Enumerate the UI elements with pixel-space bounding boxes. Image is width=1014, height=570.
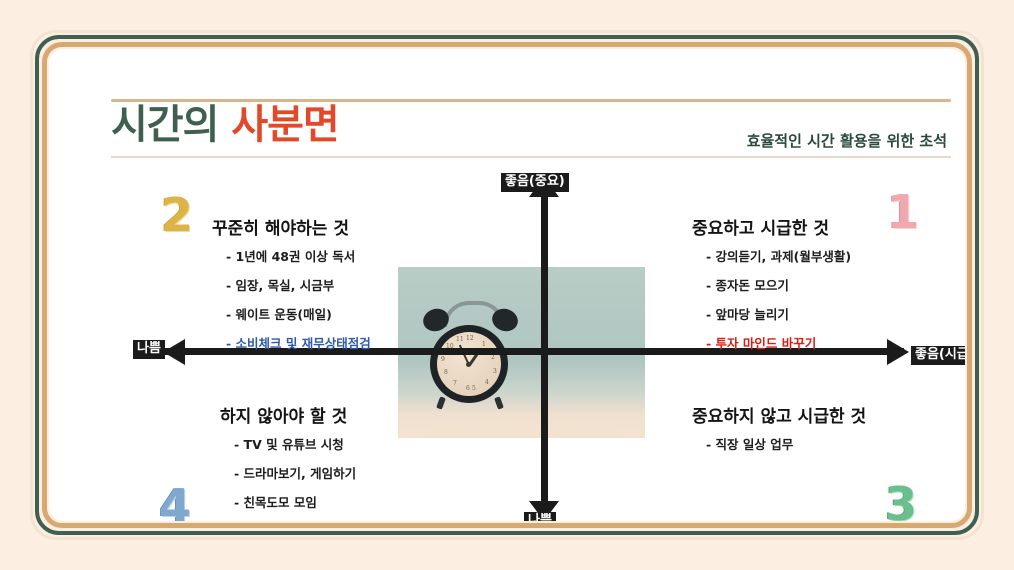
quadrant-title: 하지 않아야 할 것 xyxy=(220,402,387,427)
quadrant-bottom-left: 하지 않아야 할 것 - TV 및 유튜브 시청 - 드라마보기, 게임하기 -… xyxy=(220,402,387,521)
quadrant-item: - 종자돈 모으기 xyxy=(706,275,851,294)
quadrant-item: - 강의듣기, 과제(월부생활) xyxy=(706,246,851,265)
clock-foot-right-icon xyxy=(494,396,504,409)
quadrant-top-right: 중요하고 시급한 것 - 강의듣기, 과제(월부생활) - 종자돈 모으기 - … xyxy=(692,214,851,362)
quadrant-number-2: 2 xyxy=(161,192,193,238)
quadrant-item: - 직장 일상 업무 xyxy=(706,434,866,453)
axis-label-bottom: 나쁨 xyxy=(524,512,556,521)
quadrant-title: 중요하고 시급한 것 xyxy=(692,214,851,239)
quadrant-bottom-right: 중요하지 않고 시급한 것 - 직장 일상 업무 xyxy=(692,402,866,463)
quadrant-number-3: 3 xyxy=(885,481,917,521)
page-subtitle: 효율적인 시간 활용을 위한 초석 xyxy=(747,130,947,151)
quadrant-item: - 친목도모 모임 xyxy=(234,492,387,511)
quadrant-item: - 임장, 목실, 시금부 xyxy=(226,275,371,294)
page-title-part2: 사분면 xyxy=(231,102,338,148)
quadrant-item: - 웨이트 운동(매일) xyxy=(226,304,371,323)
quadrant-item-highlighted: - 소비체크 및 재무상태점검 xyxy=(226,333,371,352)
quadrant-title: 꾸준히 해야하는 것 xyxy=(212,214,371,239)
quadrant-item: - TV 및 유튜브 시청 xyxy=(234,434,387,453)
axis-label-left: 나쁨 xyxy=(133,340,165,359)
clock-center-pin-icon xyxy=(466,362,471,367)
header-rule-bottom xyxy=(111,156,951,158)
quadrant-item-highlighted: - 투자 마인드 바꾸기 xyxy=(706,333,851,352)
slide-canvas: 시간의 사분면 효율적인 시간 활용을 위한 초석 12 1 2 3 4 5 6… xyxy=(49,49,965,521)
quadrant-top-left: 꾸준히 해야하는 것 - 1년에 48권 이상 독서 - 임장, 목실, 시금부… xyxy=(212,214,371,362)
quadrant-item: - 드라마보기, 게임하기 xyxy=(234,463,387,482)
clock-foot-left-icon xyxy=(436,396,446,409)
quadrant-number-4: 4 xyxy=(159,483,191,521)
page-title-part1: 시간의 xyxy=(111,102,231,148)
axis-label-top: 좋음(중요) xyxy=(501,173,569,192)
quadrant-title: 중요하지 않고 시급한 것 xyxy=(692,402,866,427)
arrow-right-icon xyxy=(887,339,909,365)
quadrant-item: - 1년에 48권 이상 독서 xyxy=(226,246,371,265)
page-title: 시간의 사분면 xyxy=(111,103,339,147)
quadrant-number-1: 1 xyxy=(887,189,919,235)
arrow-left-icon xyxy=(163,339,185,365)
axis-label-right: 좋음(시급) xyxy=(911,346,965,365)
quadrant-item: - 앞마당 늘리기 xyxy=(706,304,851,323)
